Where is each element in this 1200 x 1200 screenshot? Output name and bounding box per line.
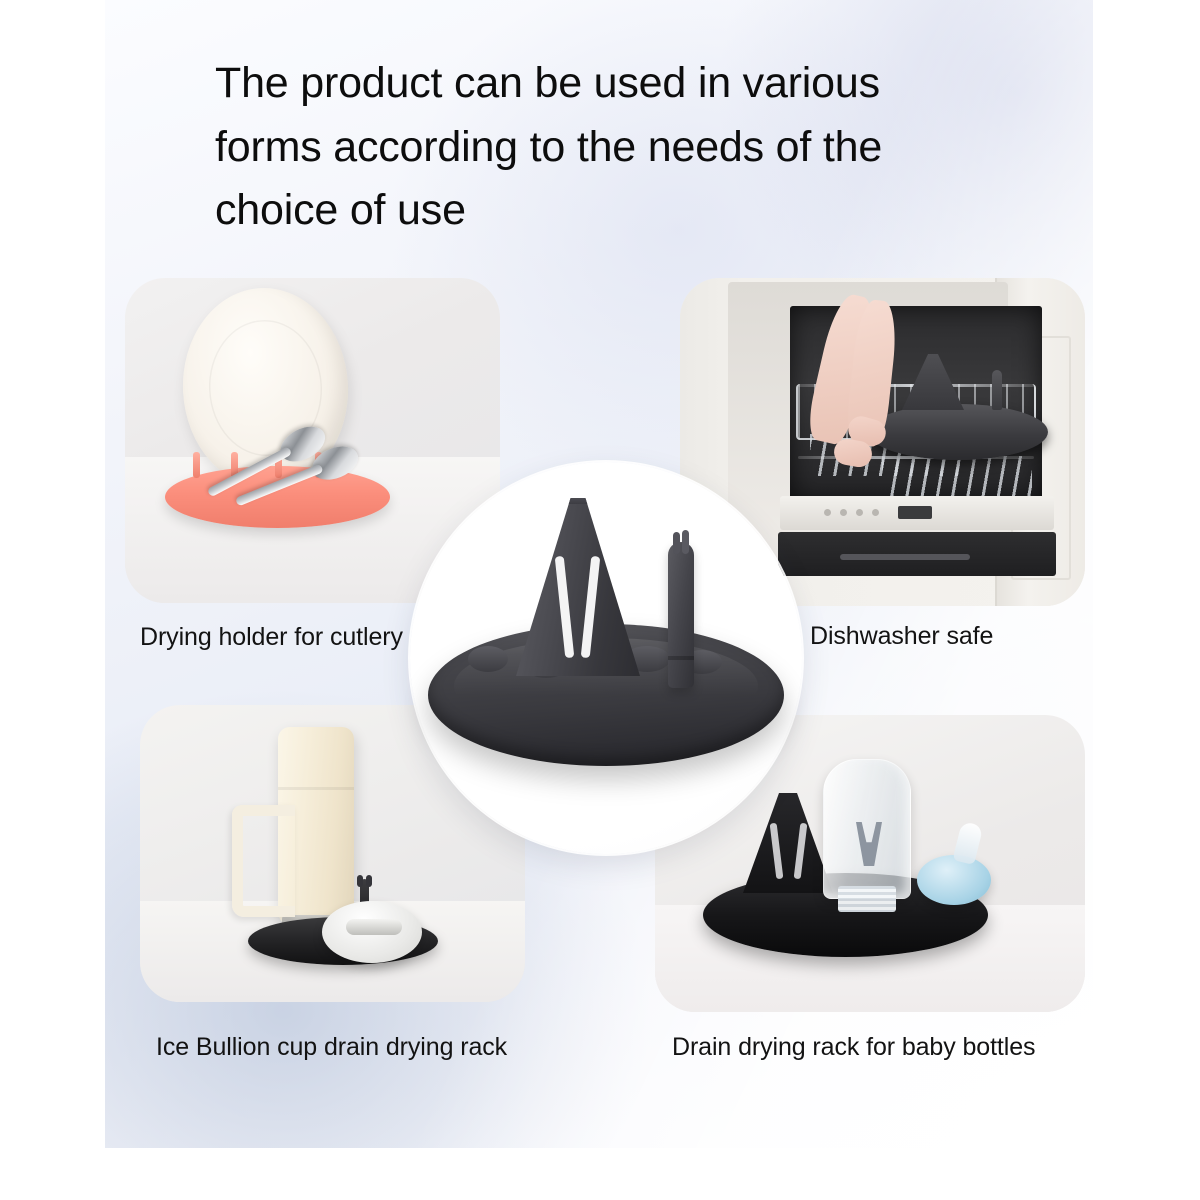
basket-tines xyxy=(882,456,1032,498)
tumbler-seam xyxy=(278,787,354,790)
caption-dishwasher: Dishwasher safe xyxy=(810,622,993,651)
product-hero-circle xyxy=(410,462,802,854)
product-drying-rack xyxy=(428,496,784,796)
tumbler-lid xyxy=(322,901,422,963)
bottle-teat xyxy=(917,855,991,905)
rack-easel xyxy=(743,793,833,893)
bottle-threads xyxy=(838,886,896,912)
control-button[interactable] xyxy=(872,509,879,516)
infographic-canvas: The product can be used in various forms… xyxy=(0,0,1200,1200)
rack-easel xyxy=(902,354,964,410)
easel-cap xyxy=(560,492,594,504)
bottle-clip xyxy=(856,822,882,866)
caption-bottles: Drain drying rack for baby bottles xyxy=(672,1033,1035,1062)
teat-nipple xyxy=(952,821,983,865)
caption-cutlery: Drying holder for cutlery xyxy=(140,623,403,652)
dishwasher-display xyxy=(898,506,932,519)
peg-prong xyxy=(673,532,680,554)
page-title: The product can be used in various forms… xyxy=(215,52,1015,243)
control-button[interactable] xyxy=(824,509,831,516)
caption-tumbler: Ice Bullion cup drain drying rack xyxy=(156,1033,507,1062)
tumbler-handle xyxy=(232,805,295,917)
peg-prong xyxy=(682,530,689,554)
rack-peg xyxy=(992,370,1002,410)
easel-slot xyxy=(581,556,601,658)
control-button[interactable] xyxy=(840,509,847,516)
tray-contour xyxy=(468,646,508,672)
dishwasher-control-panel[interactable] xyxy=(780,496,1054,530)
peg-band xyxy=(668,656,694,660)
rack-slot xyxy=(193,452,200,478)
product-easel-stand xyxy=(516,498,640,676)
easel-slot xyxy=(555,556,575,658)
coral-drying-rack xyxy=(165,466,390,528)
control-button[interactable] xyxy=(856,509,863,516)
control-buttons[interactable] xyxy=(824,509,879,516)
product-bottle-peg xyxy=(668,542,694,688)
easel-slot xyxy=(794,823,808,879)
dishwasher-door[interactable] xyxy=(778,532,1056,576)
baby-bottle xyxy=(823,759,911,899)
easel-slot xyxy=(770,823,784,879)
dishwasher-cavity xyxy=(790,306,1042,502)
product-in-dishwasher xyxy=(868,404,1048,460)
